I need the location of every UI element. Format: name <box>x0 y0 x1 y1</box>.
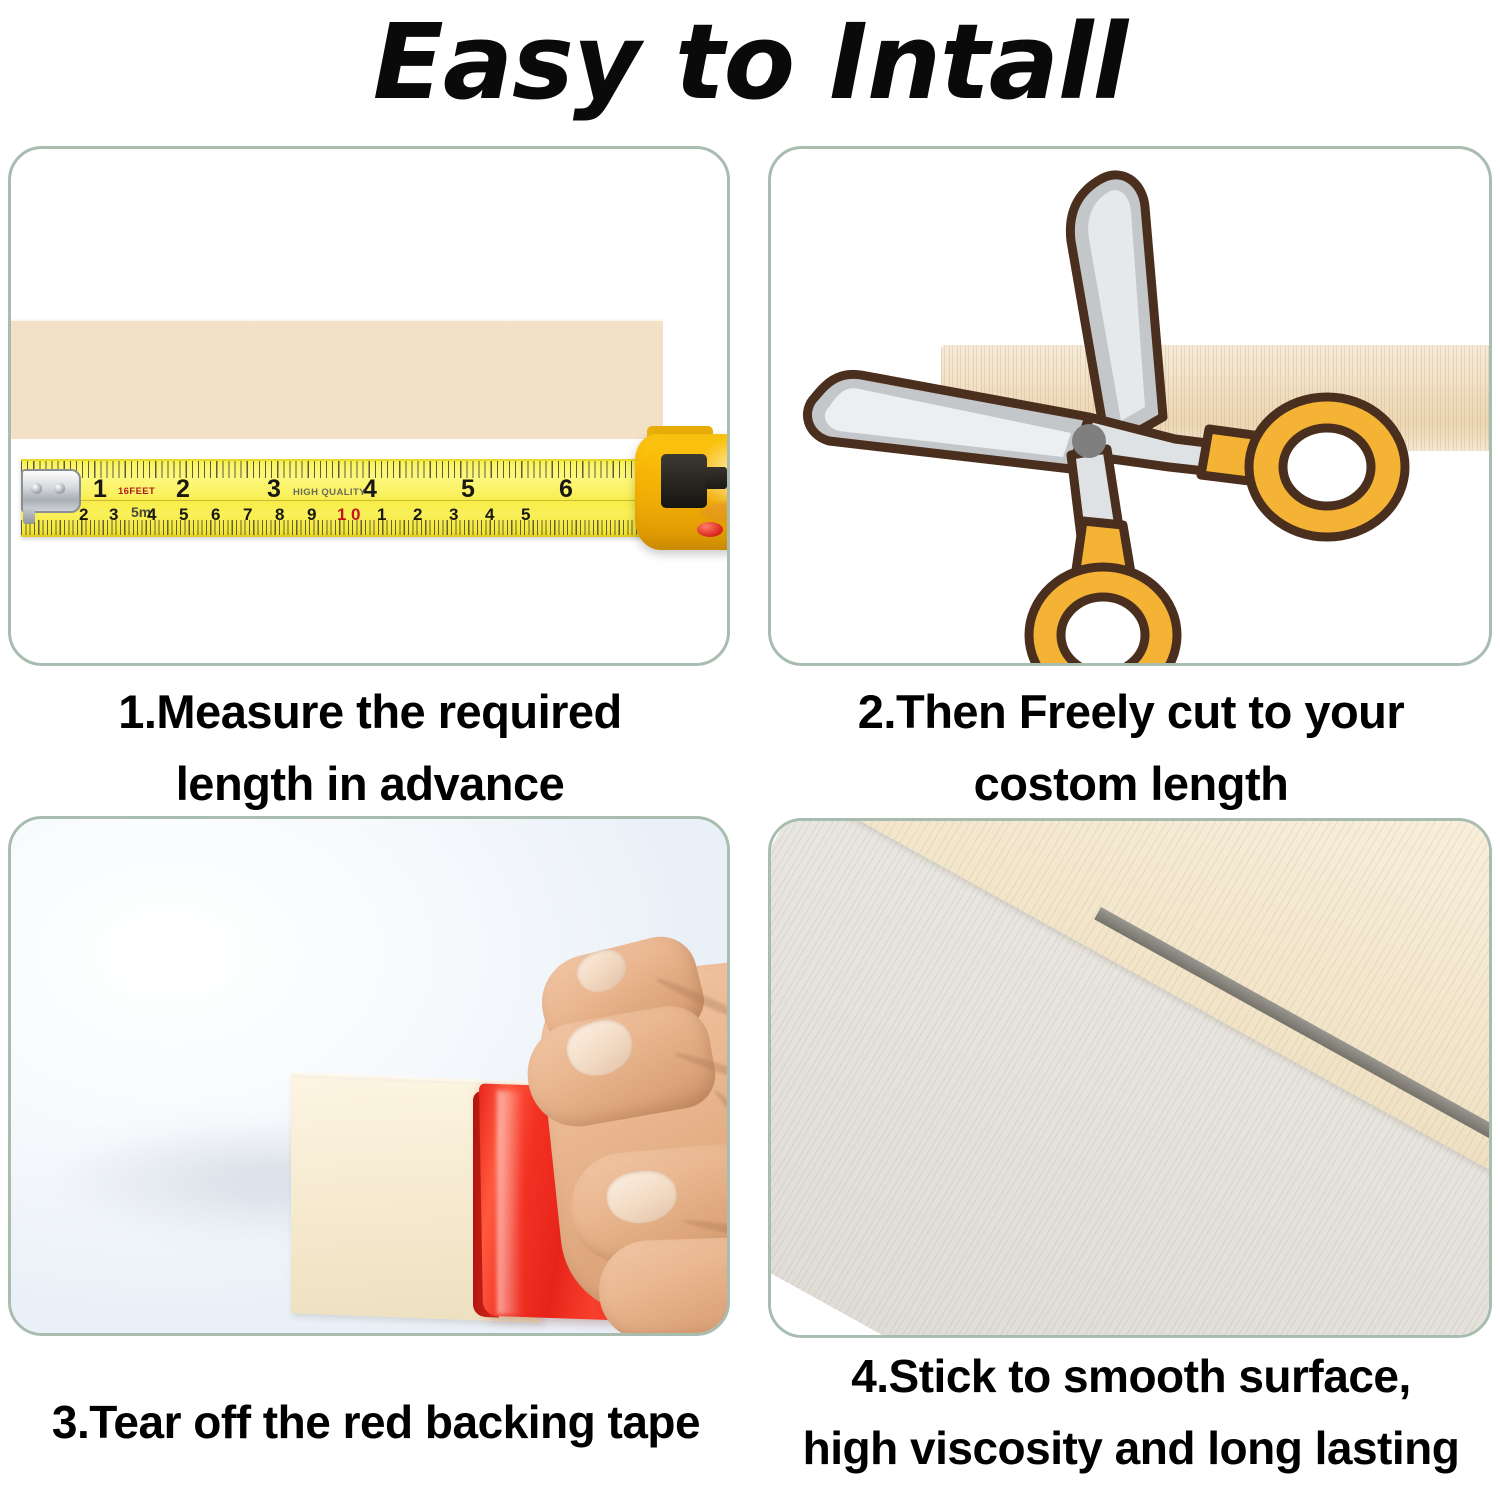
tape-measure-release-button <box>697 522 723 537</box>
tape-inch-1: 1 <box>93 477 107 502</box>
tape-measure-lock-lever <box>661 454 707 508</box>
tape-measure-hook-tab <box>23 507 35 524</box>
edge-banding-strip <box>8 321 663 439</box>
step-panel-3 <box>8 816 730 1336</box>
tape-cm-12: 2 <box>413 506 422 523</box>
step-1-caption-line-1: 1.Measure the required <box>10 676 730 748</box>
tape-midline <box>21 500 646 501</box>
tape-ticks-top <box>21 461 646 478</box>
step-2-caption-line-2: costom length <box>770 748 1492 820</box>
tape-cm-8: 9 <box>307 506 316 523</box>
scissors-icon <box>771 149 1492 666</box>
scissors-pivot <box>1072 424 1106 458</box>
step-1-caption: 1.Measure the required length in advance <box>10 676 730 820</box>
tape-cm-14: 4 <box>485 506 494 523</box>
step-panel-2 <box>768 146 1492 666</box>
step-panel-4 <box>768 818 1492 1338</box>
tape-cm-7: 8 <box>275 506 284 523</box>
page-title: Easy to Intall <box>0 2 1500 122</box>
tape-cm-4: 5 <box>179 506 188 523</box>
tape-inch-2: 2 <box>176 477 190 502</box>
tape-length-label: 16FEET <box>118 487 155 497</box>
tape-cm-2: 3 <box>109 506 118 523</box>
step-4-caption-line-1: 4.Stick to smooth surface, <box>762 1340 1500 1412</box>
step-3-caption-line-1: 3.Tear off the red backing tape <box>0 1386 752 1458</box>
step-4-caption: 4.Stick to smooth surface, high viscosit… <box>762 1340 1500 1484</box>
step-panel-1: 1 2 3 4 5 6 16FEET HIGH QUALITY 5m 2 3 4… <box>8 146 730 666</box>
tape-cm-6: 7 <box>243 506 252 523</box>
step-4-caption-line-2: high viscosity and long lasting <box>762 1412 1500 1484</box>
step-2-caption: 2.Then Freely cut to your costom length <box>770 676 1492 820</box>
tape-cm-3: 4 <box>147 506 156 523</box>
hand-finger-ring <box>597 1236 730 1336</box>
tape-inch-3: 3 <box>267 477 281 502</box>
step-3-caption: 3.Tear off the red backing tape <box>0 1386 752 1458</box>
tape-brand-label: HIGH QUALITY <box>293 488 366 498</box>
tape-cm-9: 1 <box>337 506 346 523</box>
tape-inch-5: 5 <box>461 477 475 502</box>
tape-cm-1: 2 <box>79 506 88 523</box>
tape-cm-13: 3 <box>449 506 458 523</box>
tape-cm-5: 6 <box>211 506 220 523</box>
tape-cm-10: 0 <box>351 506 360 523</box>
tape-measure-blade: 1 2 3 4 5 6 16FEET HIGH QUALITY 5m 2 3 4… <box>21 459 646 537</box>
step-2-caption-line-1: 2.Then Freely cut to your <box>770 676 1492 748</box>
tape-measure-lock-nub <box>705 467 727 489</box>
step-1-caption-line-2: length in advance <box>10 748 730 820</box>
tape-cm-15: 5 <box>521 506 530 523</box>
tape-inch-6: 6 <box>559 477 573 502</box>
tape-cm-11: 1 <box>377 506 386 523</box>
board-photo-clip <box>771 821 1492 1338</box>
red-tape-highlight <box>497 1090 523 1315</box>
